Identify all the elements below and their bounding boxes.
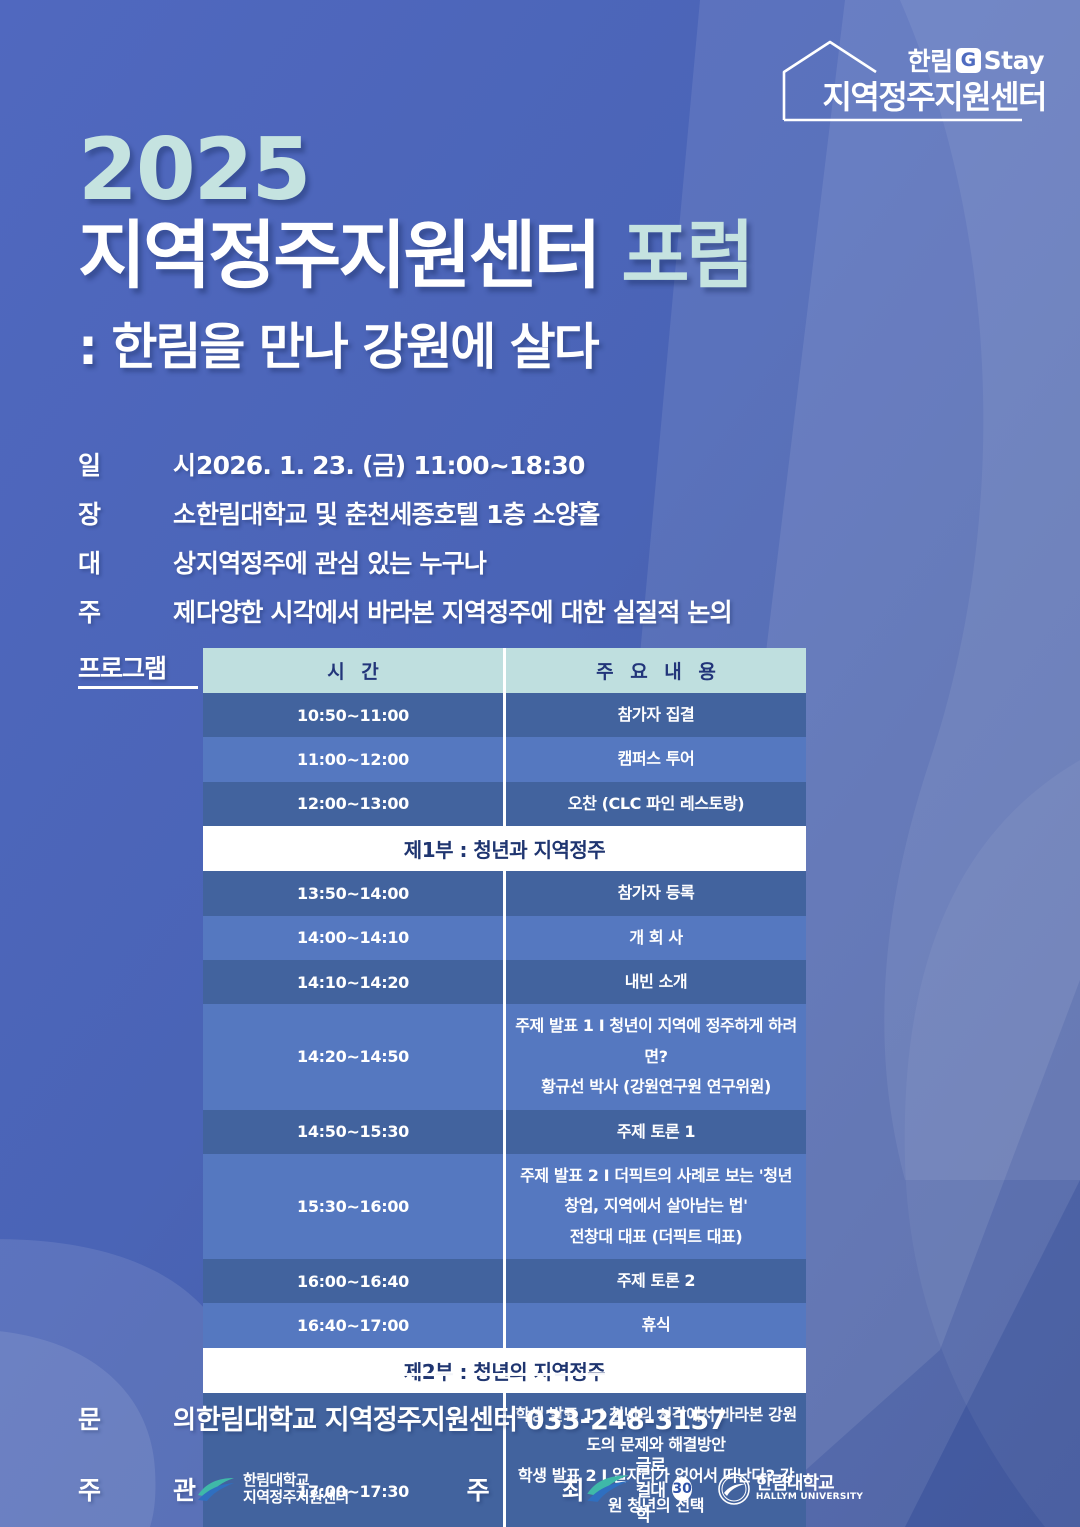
info-label-char: 시 (173, 446, 196, 482)
footer-contact-value: 한림대학교 지역정주지원센터 033-248-3157 (196, 1398, 726, 1437)
header-cell-content: 주 요 내 용 (505, 648, 807, 693)
row-time: 16:00~16:40 (203, 1259, 505, 1303)
row-content: 내빈 소개 (505, 960, 807, 1004)
footer-host-label: 주최 (467, 1471, 585, 1507)
info-value-audience: 지역정주에 관심 있는 누구나 (196, 544, 486, 580)
glocal-logo: 글로컬대학 30 (585, 1451, 692, 1526)
row-time: 15:30~16:00 (203, 1154, 505, 1259)
row-content: 오찬 (CLC 파인 레스토랑) (505, 782, 807, 826)
table-row: 11:00~12:00캠퍼스 투어 (203, 737, 806, 781)
info-row-datetime: 일시 2026. 1. 23. (금) 11:00~18:30 (78, 446, 978, 482)
row-time: 13:50~14:00 (203, 871, 505, 915)
row-content: 휴식 (505, 1303, 807, 1347)
info-label-topic: 주제 (78, 593, 196, 629)
row-time: 14:00~14:10 (203, 916, 505, 960)
poster-root: 한림 G Stay 지역정주지원센터 2025 지역정주지원센터 포럼 : 한림… (0, 0, 1080, 1527)
table-row: 15:30~16:00주제 발표 2 I 더픽트의 사례로 보는 '청년 창업,… (203, 1154, 806, 1259)
table-section-row: 제2부 : 청년의 지역정주 (203, 1348, 806, 1393)
row-time: 14:10~14:20 (203, 960, 505, 1004)
row-content: 주제 토론 1 (505, 1110, 807, 1154)
row-content-line: 참가자 등록 (512, 878, 800, 908)
hallym-logo-kr: 한림대학교 (756, 1474, 863, 1494)
organizer-logo-text: 한림대학교 지역정주지원센터 (243, 1472, 349, 1506)
table-row: 13:50~14:00참가자 등록 (203, 871, 806, 915)
info-label-char: 제 (173, 593, 196, 629)
footer-label-char: 주 (78, 1471, 101, 1507)
info-value-topic: 다양한 시각에서 바라본 지역정주에 대한 실질적 논의 (196, 593, 732, 629)
info-label-char: 소 (173, 495, 196, 531)
row-content-line: 주제 토론 1 (512, 1117, 800, 1147)
logo-center-name: 지역정주지원센터 (786, 72, 1046, 118)
row-content-line: 주제 발표 2 I 더픽트의 사례로 보는 '청년 창업, 지역에서 살아남는 … (512, 1161, 800, 1222)
swoosh-icon (196, 1476, 236, 1502)
header-cell-time: 시 간 (203, 648, 505, 693)
info-list: 일시 2026. 1. 23. (금) 11:00~18:30 장소 한림대학교… (78, 446, 978, 642)
info-row-venue: 장소 한림대학교 및 춘천세종호텔 1층 소양홀 (78, 495, 978, 531)
row-content: 캠퍼스 투어 (505, 737, 807, 781)
table-row: 14:20~14:50주제 발표 1 I 청년이 지역에 정주하게 하려면?황규… (203, 1004, 806, 1109)
info-row-audience: 대상 지역정주에 관심 있는 누구나 (78, 544, 978, 580)
row-content-line: 휴식 (512, 1310, 800, 1340)
footer-organizer-row: 주관 한림대학교 지역정주지원센터 주최 글로컬 (78, 1451, 1018, 1526)
table-section-row: 제1부 : 청년과 지역정주 (203, 826, 806, 871)
row-content-line: 황규선 박사 (강원연구원 연구위원) (512, 1072, 800, 1102)
info-label-datetime: 일시 (78, 446, 196, 482)
row-content-line: 오찬 (CLC 파인 레스토랑) (512, 789, 800, 819)
table-row: 16:00~16:40주제 토론 2 (203, 1259, 806, 1303)
organizer-logo: 한림대학교 지역정주지원센터 (196, 1472, 349, 1506)
title-block: 2025 지역정주지원센터 포럼 : 한림을 만나 강원에 살다 (78, 130, 998, 379)
year-text: 2025 (78, 130, 998, 212)
table-row: 10:50~11:00참가자 집결 (203, 693, 806, 737)
table-row: 14:00~14:10개 회 사 (203, 916, 806, 960)
info-label-char: 장 (78, 495, 101, 531)
footer-label-char: 관 (173, 1471, 196, 1507)
row-time: 12:00~13:00 (203, 782, 505, 826)
row-time: 14:50~15:30 (203, 1110, 505, 1154)
hallym-logo: 한림대학교 HALLYM UNIVERSITY (718, 1473, 863, 1505)
table-row: 12:00~13:00오찬 (CLC 파인 레스토랑) (203, 782, 806, 826)
table-header-row: 시 간 주 요 내 용 (203, 648, 806, 693)
row-time: 10:50~11:00 (203, 693, 505, 737)
footer-label-char: 주 (467, 1471, 490, 1507)
program-label: 프로그램 (78, 649, 198, 689)
footer-label-char: 문 (78, 1400, 101, 1436)
brand-stay: Stay (984, 46, 1044, 75)
info-label-char: 주 (78, 593, 101, 629)
info-label-venue: 장소 (78, 495, 196, 531)
info-label-char: 일 (78, 446, 101, 482)
row-time: 14:20~14:50 (203, 1004, 505, 1109)
footer-label-char: 최 (562, 1471, 585, 1507)
hallym-logo-en: HALLYM UNIVERSITY (756, 1493, 863, 1503)
section-title: 제1부 : 청년과 지역정주 (203, 826, 806, 871)
row-content: 주제 발표 2 I 더픽트의 사례로 보는 '청년 창업, 지역에서 살아남는 … (505, 1154, 807, 1259)
info-row-topic: 주제 다양한 시각에서 바라본 지역정주에 대한 실질적 논의 (78, 593, 978, 629)
g-badge-icon: G (956, 48, 981, 73)
row-content-line: 캠퍼스 투어 (512, 744, 800, 774)
section-title: 제2부 : 청년의 지역정주 (203, 1348, 806, 1393)
info-value-venue: 한림대학교 및 춘천세종호텔 1층 소양홀 (196, 495, 599, 531)
organizer-logo-line1: 한림대학교 (243, 1472, 349, 1489)
hallym-logo-text: 한림대학교 HALLYM UNIVERSITY (756, 1474, 863, 1504)
footer-contact-row: 문의 한림대학교 지역정주지원센터 033-248-3157 (78, 1398, 1018, 1437)
row-content-line: 주제 토론 2 (512, 1266, 800, 1296)
row-content: 주제 발표 1 I 청년이 지역에 정주하게 하려면?황규선 박사 (강원연구원… (505, 1004, 807, 1109)
table-row: 14:10~14:20내빈 소개 (203, 960, 806, 1004)
footer-divider (203, 1373, 806, 1376)
subtitle: : 한림을 만나 강원에 살다 (78, 307, 998, 379)
row-content: 주제 토론 2 (505, 1259, 807, 1303)
footer-contact-label: 문의 (78, 1400, 196, 1436)
footer-organizer-label: 주관 (78, 1471, 196, 1507)
row-time: 11:00~12:00 (203, 737, 505, 781)
header-logo: 한림 G Stay 지역정주지원센터 (778, 34, 1046, 126)
row-content-line: 개 회 사 (512, 923, 800, 953)
row-content-line: 주제 발표 1 I 청년이 지역에 정주하게 하려면? (512, 1011, 800, 1072)
info-label-audience: 대상 (78, 544, 196, 580)
organizer-logo-line2: 지역정주지원센터 (243, 1489, 349, 1506)
program-table: 시 간 주 요 내 용 10:50~11:00참가자 집결11:00~12:00… (203, 648, 806, 1527)
main-title: 지역정주지원센터 포럼 (78, 218, 998, 296)
table-row: 16:40~17:00휴식 (203, 1303, 806, 1347)
footer: 문의 한림대학교 지역정주지원센터 033-248-3157 주관 한림대학교 … (78, 1398, 1018, 1527)
glocal-swoosh-icon (585, 1473, 631, 1503)
row-content: 참가자 등록 (505, 871, 807, 915)
info-label-char: 대 (78, 544, 101, 580)
row-content-line: 전창대 대표 (더픽트 대표) (512, 1222, 800, 1252)
row-content: 참가자 집결 (505, 693, 807, 737)
glocal-30-badge: 30 (672, 1477, 691, 1501)
main-title-accent: 포럼 (621, 213, 751, 299)
glocal-text: 글로컬대학 (636, 1451, 668, 1526)
main-title-text: 지역정주지원센터 (78, 213, 599, 299)
row-time: 16:40~17:00 (203, 1303, 505, 1347)
footer-label-char: 의 (173, 1400, 196, 1436)
info-label-char: 상 (173, 544, 196, 580)
row-content-line: 내빈 소개 (512, 967, 800, 997)
row-content: 개 회 사 (505, 916, 807, 960)
table-row: 14:50~15:30주제 토론 1 (203, 1110, 806, 1154)
hallym-seal-icon (718, 1473, 750, 1505)
row-content-line: 참가자 집결 (512, 700, 800, 730)
info-value-datetime: 2026. 1. 23. (금) 11:00~18:30 (196, 446, 585, 482)
